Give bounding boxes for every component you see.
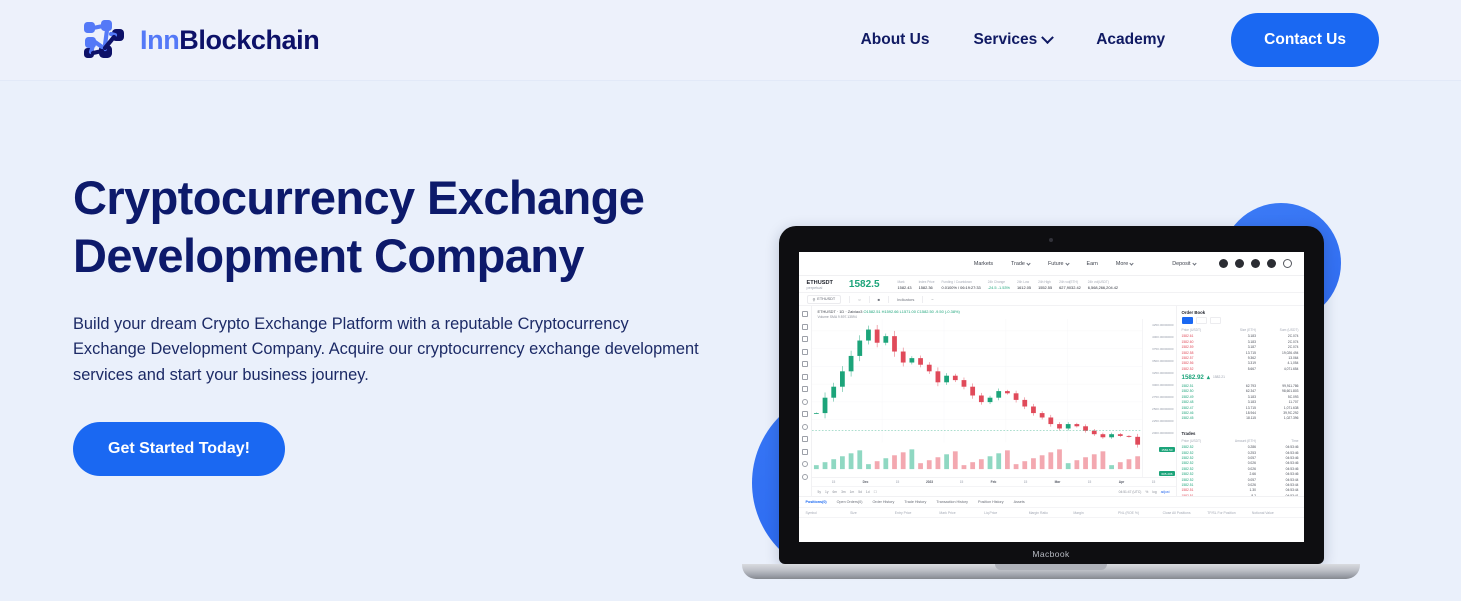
- ticker-stat-key: Mark: [898, 280, 912, 284]
- orderbook-title: Order Book: [1177, 306, 1304, 317]
- moon-icon[interactable]: [1267, 259, 1276, 268]
- trade-amount: 2.66: [1221, 472, 1256, 476]
- text-tool-icon[interactable]: [802, 361, 808, 367]
- brand-text-part2: Blockchain: [179, 25, 319, 55]
- chart-header-symbol: ETHUSDT · 1D · Zaixiao3: [818, 309, 863, 314]
- orderbook-bid-row[interactable]: 1582.5162.79399,911.786: [1177, 383, 1304, 388]
- positions-column-header: TP/SL For Position: [1207, 511, 1252, 515]
- trade-row: 1582.520.25304:53:46: [1177, 450, 1304, 455]
- chevron-down-icon: [1026, 261, 1030, 265]
- hero-title: Cryptocurrency Exchange Development Comp…: [73, 169, 733, 286]
- positions-column-header: Notional Value: [1252, 511, 1297, 515]
- indicators-button[interactable]: Indicators: [897, 297, 914, 302]
- ticker-stat: Mark1582.43: [898, 280, 912, 290]
- hero-section: Cryptocurrency Exchange Development Comp…: [0, 81, 1461, 601]
- macbook-base: [742, 564, 1360, 579]
- orderbook-ask-row[interactable]: 1582.613.1832C.074: [1177, 334, 1304, 339]
- orderbook-ask-row[interactable]: 1582.5813.71519,026.494: [1177, 350, 1304, 355]
- auto-adjust-button[interactable]: adjust: [1161, 490, 1170, 494]
- macbook-screen: Markets Trade Future Earn More Deposit: [799, 252, 1304, 542]
- timeframe-1m[interactable]: 1m: [850, 490, 855, 494]
- row-sum: 1,027.396: [1256, 416, 1299, 420]
- settings-icon[interactable]: [1283, 259, 1292, 268]
- ticker-stat-value: 1582.36: [919, 285, 935, 290]
- price-tick: 2250.00000000: [1152, 419, 1174, 423]
- candlestick-chart[interactable]: [812, 319, 1142, 477]
- orderbook-ask-row[interactable]: 1582.579.36213.064: [1177, 355, 1304, 360]
- lock-tool-icon[interactable]: [802, 449, 808, 455]
- app-nav-deposit[interactable]: Deposit: [1142, 261, 1204, 267]
- positions-column-header: Size: [850, 511, 895, 515]
- row-size: 3.187: [1221, 345, 1256, 349]
- trade-price: 1582.51: [1182, 483, 1221, 487]
- row-size: 62.793: [1221, 384, 1256, 388]
- positions-tab[interactable]: Position History: [978, 500, 1004, 504]
- main-navigation: About Us Services Academy Contact Us: [839, 13, 1379, 67]
- macbook-notch: [995, 564, 1107, 570]
- row-price: 1582.48: [1182, 400, 1221, 404]
- row-size: 9.362: [1221, 356, 1256, 360]
- app-nav-future-label: Future: [1048, 261, 1064, 267]
- emoji-tool-icon[interactable]: [802, 399, 808, 405]
- measure-tool-icon[interactable]: [802, 411, 808, 417]
- price-tick: 2500.00000000: [1152, 407, 1174, 411]
- hero-title-line2: Development Company: [73, 229, 584, 282]
- row-sum: 5C.093: [1256, 395, 1299, 399]
- positions-table-body: [799, 518, 1304, 542]
- trade-price: 1582.52: [1182, 456, 1221, 460]
- orderbook-view-modes: [1177, 317, 1304, 327]
- toolbar-divider: [888, 296, 889, 303]
- macbook-mockup: Markets Trade Future Earn More Deposit: [742, 226, 1360, 579]
- row-sum: 98,601.803: [1256, 389, 1299, 393]
- price-tick: 3250.00000000: [1152, 371, 1174, 375]
- right-panel: Order Book Price (USDT) Size (ETH) Sum (…: [1176, 306, 1304, 496]
- device-label: Macbook: [1032, 549, 1069, 559]
- trade-time: 04:53:46: [1256, 456, 1299, 460]
- time-tick: Dec: [850, 480, 882, 484]
- nav-item-academy[interactable]: Academy: [1074, 23, 1187, 57]
- app-nav-earn[interactable]: Earn: [1078, 261, 1107, 267]
- chart-column: ETHUSDT · 1D · Zaixiao3 O1582.51 H1592.6…: [812, 306, 1176, 496]
- mid-price-value: 1582.92: [1182, 374, 1204, 381]
- chevron-down-icon: [1130, 261, 1134, 265]
- site-header: InnBlockchain About Us Services Academy …: [0, 0, 1461, 81]
- camera-icon: [1049, 238, 1053, 242]
- trades-list: 1582.520.28604:53:461582.520.25304:53:46…: [1177, 445, 1304, 499]
- trades-col-time: Time: [1256, 439, 1299, 443]
- row-price: 1582.45: [1182, 416, 1221, 420]
- row-size: 3.319: [1221, 361, 1256, 365]
- row-size: 3.183: [1221, 400, 1256, 404]
- positions-column-header: Close All Positions: [1163, 511, 1208, 515]
- exchange-ticker-bar: ETHUSDT perpetual 1582.5 Mark1582.43 Ind…: [799, 276, 1304, 293]
- trade-price: 1582.52: [1182, 445, 1221, 449]
- row-sum: 4.1,054: [1256, 361, 1299, 365]
- ticker-subtitle: perpetual: [807, 286, 833, 290]
- price-tick: 2750.00000000: [1152, 395, 1174, 399]
- nav-label-about-us: About Us: [861, 31, 930, 49]
- trade-price: 1582.52: [1182, 451, 1221, 455]
- ticker-stat-key: 24h vol(ETH): [1059, 280, 1081, 284]
- trade-row: 1582.520.02604:53:46: [1177, 461, 1304, 466]
- chevron-down-icon: [1065, 261, 1069, 265]
- row-size: 13.715: [1221, 406, 1256, 410]
- get-started-button[interactable]: Get Started Today!: [73, 422, 285, 476]
- fib-tool-icon[interactable]: [802, 349, 808, 355]
- pattern-tool-icon[interactable]: [802, 374, 808, 380]
- chart-header: ETHUSDT · 1D · Zaixiao3 O1582.51 H1592.6…: [812, 306, 1176, 319]
- trade-amount: 0.253: [1221, 451, 1256, 455]
- trade-time: 04:53:46: [1256, 451, 1299, 455]
- trash-tool-icon[interactable]: [802, 474, 808, 480]
- macbook-lid: Markets Trade Future Earn More Deposit: [779, 226, 1324, 564]
- chevron-down-icon: [1041, 31, 1054, 44]
- row-size: 18.115: [1221, 416, 1256, 420]
- nav-item-services[interactable]: Services: [951, 23, 1074, 57]
- ticker-stat-value: -24.5 -1.53%: [988, 285, 1010, 290]
- price-tick: 3000.00000000: [1152, 383, 1174, 387]
- ticker-stat: 24h Low1612.05: [1017, 280, 1031, 290]
- price-tick: 3750.00000000: [1152, 347, 1174, 351]
- trades-col-price: Price (USDT): [1182, 439, 1221, 443]
- chart-clock: 04:51:47 (UTC): [1119, 490, 1142, 494]
- symbol-search-input[interactable]: ⚲ ETHUSDT: [807, 295, 842, 304]
- time-tick: 15: [946, 480, 978, 484]
- candlestick-svg: [812, 319, 1142, 477]
- trade-time: 04:53:46: [1256, 461, 1299, 465]
- orderbook-ask-row[interactable]: 1582.603.1832C.074: [1177, 339, 1304, 344]
- toolbar-divider: [869, 296, 870, 303]
- app-nav-more[interactable]: More: [1107, 261, 1142, 267]
- trade-time: 04:53:44: [1256, 488, 1299, 492]
- mid-price-sub: 1582.21: [1213, 375, 1225, 379]
- timeframe-1y[interactable]: 1y: [825, 490, 828, 494]
- positions-column-header: Margin: [1073, 511, 1118, 515]
- row-price: 1582.58: [1182, 351, 1221, 355]
- trade-row: 1582.510.02604:53:44: [1177, 482, 1304, 487]
- ticker-stat: 24h Change-24.5 -1.53%: [988, 280, 1010, 290]
- ticker-stat-value: 627,9032.42: [1059, 285, 1081, 290]
- row-size: 62.347: [1221, 389, 1256, 393]
- ticker-stats: Mark1582.43 Index Price1582.36 Funding /…: [898, 280, 1119, 290]
- row-sum: 13.064: [1256, 356, 1299, 360]
- symbol-search-value: ETHUSDT: [817, 297, 835, 301]
- app-nav-icons: [1205, 259, 1296, 268]
- orderbook-bid-row[interactable]: 1582.483.18311.707: [1177, 399, 1304, 404]
- positions-tab[interactable]: Positions(0): [806, 500, 827, 504]
- zoom-tool-icon[interactable]: [802, 424, 808, 430]
- time-tick: 15: [1138, 480, 1170, 484]
- positions-column-header: Margin Ratio: [1029, 511, 1074, 515]
- trade-price: 1582.52: [1182, 472, 1221, 476]
- orderbook-bid-row[interactable]: 1582.4713.7151,071.638: [1177, 405, 1304, 410]
- app-nav-deposit-label: Deposit: [1172, 261, 1190, 267]
- timeframe-5y[interactable]: 5y: [818, 490, 821, 494]
- ticker-stat-key: 24h High: [1038, 280, 1052, 284]
- positions-tab[interactable]: Trade History: [904, 500, 926, 504]
- hide-tool-icon[interactable]: [802, 461, 808, 467]
- hero-paragraph: Build your dream Crypto Exchange Platfor…: [73, 312, 703, 389]
- orderbook-columns: Price (USDT) Size (ETH) Sum (USDT): [1177, 327, 1304, 334]
- trade-price: 1582.51: [1182, 488, 1221, 492]
- ticker-stat: Funding / Countdown0.0100% / 06:19:27:33: [942, 280, 981, 290]
- positions-tabs: Positions(0)Open Orders(0)Order HistoryT…: [799, 496, 1304, 507]
- globe-icon[interactable]: [1251, 259, 1260, 268]
- trade-row: 1582.520.05704:53:44: [1177, 477, 1304, 482]
- positions-column-header: Liq.Price: [984, 511, 1029, 515]
- ticker-stat-value: 6,568,266,204.42: [1088, 285, 1118, 290]
- interval-button[interactable]: ○: [858, 297, 860, 302]
- calendar-icon[interactable]: ☐: [874, 490, 877, 494]
- search-icon: ⚲: [813, 297, 816, 302]
- row-sum: 19,026.494: [1256, 351, 1299, 355]
- time-tick: 2023: [914, 480, 946, 484]
- ticker-stat: 24h vol(ETH)627,9032.42: [1059, 280, 1081, 290]
- trade-row: 1582.511.3004:53:44: [1177, 488, 1304, 493]
- row-sum: 2C.074: [1256, 334, 1299, 338]
- trade-time: 04:53:46: [1256, 467, 1299, 471]
- orderbook-mode-both[interactable]: [1182, 317, 1193, 324]
- chevron-down-icon: [1192, 261, 1196, 265]
- row-price: 1582.51: [1182, 384, 1221, 388]
- landing-page: InnBlockchain About Us Services Academy …: [0, 0, 1461, 601]
- positions-column-header: Mark Price: [939, 511, 984, 515]
- time-tick: 15: [818, 480, 850, 484]
- positions-column-header: Symbol: [806, 511, 851, 515]
- time-axis: 15 Dec 15 2023 15 Feb 15 Mar 15 Apr 15: [812, 477, 1176, 486]
- exchange-body: ETHUSDT · 1D · Zaixiao3 O1582.51 H1592.6…: [799, 306, 1304, 496]
- chart-header-ohlc: O1582.51 H1592.66 L1571.00 C1582.50 -9.5…: [864, 309, 960, 314]
- row-price: 1582.52: [1182, 367, 1221, 371]
- orderbook-bid-row[interactable]: 1582.4618.94439,9C.292: [1177, 410, 1304, 415]
- contact-us-button[interactable]: Contact Us: [1231, 13, 1379, 67]
- ticker-stat: 24h vol(USDT)6,568,266,204.42: [1088, 280, 1118, 290]
- price-axis: 4250.00000000 4000.00000000 3750.0000000…: [1142, 319, 1176, 477]
- toolbar-divider: [849, 296, 850, 303]
- trade-time: 04:53:46: [1256, 472, 1299, 476]
- time-tick: 15: [1010, 480, 1042, 484]
- orderbook-col-price: Price (USDT): [1182, 328, 1221, 332]
- app-nav-more-label: More: [1116, 261, 1128, 267]
- row-size: 5.667: [1221, 367, 1256, 371]
- row-size: 3.183: [1221, 395, 1256, 399]
- positions-column-header: PNL (ROE %): [1118, 511, 1163, 515]
- brand-text-part1: Inn: [140, 25, 179, 55]
- orderbook-ask-row[interactable]: 1582.593.1872C.074: [1177, 344, 1304, 349]
- trade-row: 1582.520.28604:53:46: [1177, 445, 1304, 450]
- ticker-stat-key: 24h Change: [988, 280, 1010, 284]
- price-tick: 2000.00000000: [1152, 431, 1174, 435]
- arrow-up-icon: ▴: [1207, 374, 1210, 381]
- app-nav-trade[interactable]: Trade: [1002, 261, 1039, 267]
- time-tick: 15: [882, 480, 914, 484]
- trade-row: 1582.520.02604:53:46: [1177, 466, 1304, 471]
- row-sum: 11.707: [1256, 400, 1299, 404]
- ticker-stat-value: 0.0100% / 06:19:27:33: [942, 285, 981, 290]
- shapes-tool-icon[interactable]: [802, 386, 808, 392]
- orderbook-ask-row[interactable]: 1582.563.3194.1,054: [1177, 361, 1304, 366]
- chart-footer-right: 04:51:47 (UTC) % log adjust: [1119, 490, 1170, 494]
- horizontal-line-tool-icon[interactable]: [802, 336, 808, 342]
- app-nav-markets[interactable]: Markets: [965, 261, 1002, 267]
- row-price: 1582.57: [1182, 356, 1221, 360]
- trade-amount: 0.026: [1221, 467, 1256, 471]
- trade-time: 04:53:44: [1256, 483, 1299, 487]
- orderbook-bid-row[interactable]: 1582.4518.1151,027.396: [1177, 416, 1304, 421]
- trade-amount: 0.057: [1221, 456, 1256, 460]
- ticker-stat-key: Funding / Countdown: [942, 280, 981, 284]
- row-price: 1582.49: [1182, 395, 1221, 399]
- trade-amount: 1.30: [1221, 488, 1256, 492]
- row-price: 1582.61: [1182, 334, 1221, 338]
- time-tick: Mar: [1042, 480, 1074, 484]
- row-size: 3.183: [1221, 340, 1256, 344]
- positions-tab[interactable]: Order History: [872, 500, 894, 504]
- trade-amount: 0.057: [1221, 478, 1256, 482]
- timeframe-3m[interactable]: 3m: [841, 490, 846, 494]
- time-tick: Apr: [1106, 480, 1138, 484]
- trendline-tool-icon[interactable]: [802, 324, 808, 330]
- brand-text: InnBlockchain: [140, 25, 319, 56]
- ticker-symbol: ETHUSDT: [807, 280, 833, 286]
- app-nav-future[interactable]: Future: [1039, 261, 1078, 267]
- trade-amount: 0.026: [1221, 461, 1256, 465]
- percent-icon[interactable]: %: [1145, 490, 1148, 494]
- trade-price: 1582.52: [1182, 467, 1221, 471]
- trade-time: 04:53:46: [1256, 445, 1299, 449]
- orderbook-bids: 1582.5162.79399,911.7861582.5062.34798,6…: [1177, 383, 1304, 421]
- chart-footer: 5y 1y 6m 3m 1m 5d 1d ☐ 04:51:47 (UTC): [812, 486, 1176, 496]
- time-tick: Feb: [978, 480, 1010, 484]
- trade-price: 1582.52: [1182, 461, 1221, 465]
- row-sum: 4,071.654: [1256, 367, 1299, 371]
- orderbook-col-sum: Sum (USDT): [1256, 328, 1299, 332]
- positions-tab[interactable]: Transaction History: [936, 500, 968, 504]
- nav-label-services: Services: [973, 31, 1037, 49]
- timeframe-1d[interactable]: 1d: [866, 490, 870, 494]
- timeframe-5d[interactable]: 5d: [858, 490, 862, 494]
- orderbook-mode-asks[interactable]: [1210, 317, 1221, 324]
- row-size: 18.944: [1221, 411, 1256, 415]
- row-sum: 1,071.638: [1256, 406, 1299, 410]
- row-sum: 99,911.786: [1256, 384, 1299, 388]
- ticker-stat-key: 24h vol(USDT): [1088, 280, 1118, 284]
- ticker-stat-key: 24h Low: [1017, 280, 1031, 284]
- positions-table-header: SymbolSizeEntry PriceMark PriceLiq.Price…: [799, 507, 1304, 518]
- hero-title-line1: Cryptocurrency Exchange: [73, 171, 644, 224]
- log-scale-button[interactable]: log: [1152, 490, 1156, 494]
- ticker-stat: 24h High1552.55: [1038, 280, 1052, 290]
- orderbook-mode-bids[interactable]: [1196, 317, 1207, 324]
- trades-col-amount: Amount (ETH): [1221, 439, 1256, 443]
- row-size: 3.183: [1221, 334, 1256, 338]
- row-price: 1582.46: [1182, 411, 1221, 415]
- row-price: 1582.47: [1182, 406, 1221, 410]
- volume-badge: 605.206: [1159, 471, 1174, 476]
- row-size: 13.715: [1221, 351, 1256, 355]
- app-nav-trade-label: Trade: [1011, 261, 1025, 267]
- last-price-badge: 1582.50: [1159, 447, 1174, 452]
- price-tick: 3500.00000000: [1152, 359, 1174, 363]
- ticker-stat-value: 1582.43: [898, 285, 912, 290]
- drawing-tools-rail: [799, 306, 812, 496]
- trades-title: Trades: [1177, 427, 1304, 438]
- app-nav-markets-label: Markets: [974, 261, 993, 267]
- hero-content: Cryptocurrency Exchange Development Comp…: [73, 169, 733, 476]
- app-nav-earn-label: Earn: [1087, 261, 1098, 267]
- orderbook-bid-row[interactable]: 1582.5062.34798,601.803: [1177, 389, 1304, 394]
- row-sum: 39,9C.292: [1256, 411, 1299, 415]
- magnet-tool-icon[interactable]: [802, 436, 808, 442]
- chart-type-button[interactable]: ■: [878, 297, 880, 302]
- cursor-tool-icon[interactable]: [802, 311, 808, 317]
- compare-button[interactable]: −: [931, 297, 933, 302]
- time-tick: 15: [1074, 480, 1106, 484]
- orderbook-mid-price: 1582.92 ▴ 1582.21: [1177, 371, 1304, 383]
- nav-label-academy: Academy: [1096, 31, 1165, 49]
- row-price: 1582.59: [1182, 345, 1221, 349]
- row-price: 1582.56: [1182, 361, 1221, 365]
- ticker-symbol-block[interactable]: ETHUSDT perpetual: [807, 280, 833, 290]
- ticker-stat-key: Index Price: [919, 280, 935, 284]
- row-price: 1582.60: [1182, 340, 1221, 344]
- positions-column-header: Entry Price: [895, 511, 940, 515]
- trades-columns: Price (USDT) Amount (ETH) Time: [1177, 438, 1304, 445]
- positions-tab[interactable]: Open Orders(0): [837, 500, 863, 504]
- positions-tab[interactable]: Assets: [1014, 500, 1025, 504]
- row-sum: 2C.074: [1256, 345, 1299, 349]
- trade-row: 1582.520.05704:53:46: [1177, 455, 1304, 460]
- price-tick: 4250.00000000: [1152, 323, 1174, 327]
- wallet-icon[interactable]: [1235, 259, 1244, 268]
- user-icon[interactable]: [1219, 259, 1228, 268]
- ticker-stat-value: 1612.05: [1017, 285, 1031, 290]
- trade-amount: 0.026: [1221, 483, 1256, 487]
- ticker-stat: Index Price1582.36: [919, 280, 935, 290]
- row-sum: 2C.074: [1256, 340, 1299, 344]
- trade-amount: 0.286: [1221, 445, 1256, 449]
- chart-canvas-wrap: 4250.00000000 4000.00000000 3750.0000000…: [812, 319, 1176, 477]
- price-tick: 4000.00000000: [1152, 335, 1174, 339]
- timeframe-6m[interactable]: 6m: [832, 490, 837, 494]
- toolbar-divider: [922, 296, 923, 303]
- row-price: 1582.50: [1182, 389, 1221, 393]
- ticker-price: 1582.5: [849, 279, 880, 290]
- orderbook-col-size: Size (ETH): [1221, 328, 1256, 332]
- network-nodes-icon: [83, 20, 127, 60]
- nav-item-about-us[interactable]: About Us: [839, 23, 952, 57]
- orderbook-asks: 1582.613.1832C.0741582.603.1832C.0741582…: [1177, 334, 1304, 372]
- exchange-top-nav: Markets Trade Future Earn More Deposit: [799, 252, 1304, 276]
- brand-logo[interactable]: InnBlockchain: [83, 20, 319, 60]
- trade-row: 1582.522.6604:53:46: [1177, 472, 1304, 477]
- orderbook-bid-row[interactable]: 1582.493.1835C.093: [1177, 394, 1304, 399]
- chart-toolbar: ⚲ ETHUSDT ○ ■ Indicators −: [799, 293, 1304, 306]
- ticker-stat-value: 1552.55: [1038, 285, 1052, 290]
- trade-time: 04:53:44: [1256, 478, 1299, 482]
- trade-price: 1582.52: [1182, 478, 1221, 482]
